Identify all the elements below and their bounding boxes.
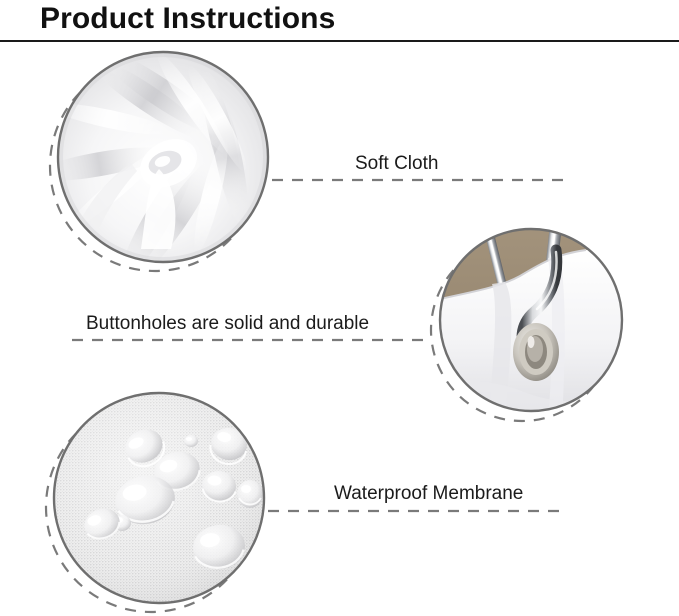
feature-label-waterproof-membrane: Waterproof Membrane (334, 482, 523, 506)
grommet-icon (513, 323, 559, 381)
product-instructions-infographic: Product Instructions (0, 0, 679, 616)
feature-label-buttonholes: Buttonholes are solid and durable (86, 312, 369, 336)
buttonhole-photo (436, 212, 636, 420)
infographic-artwork (0, 0, 679, 616)
soft-cloth-photo (30, 39, 268, 290)
feature-label-soft-cloth: Soft Cloth (355, 152, 438, 176)
